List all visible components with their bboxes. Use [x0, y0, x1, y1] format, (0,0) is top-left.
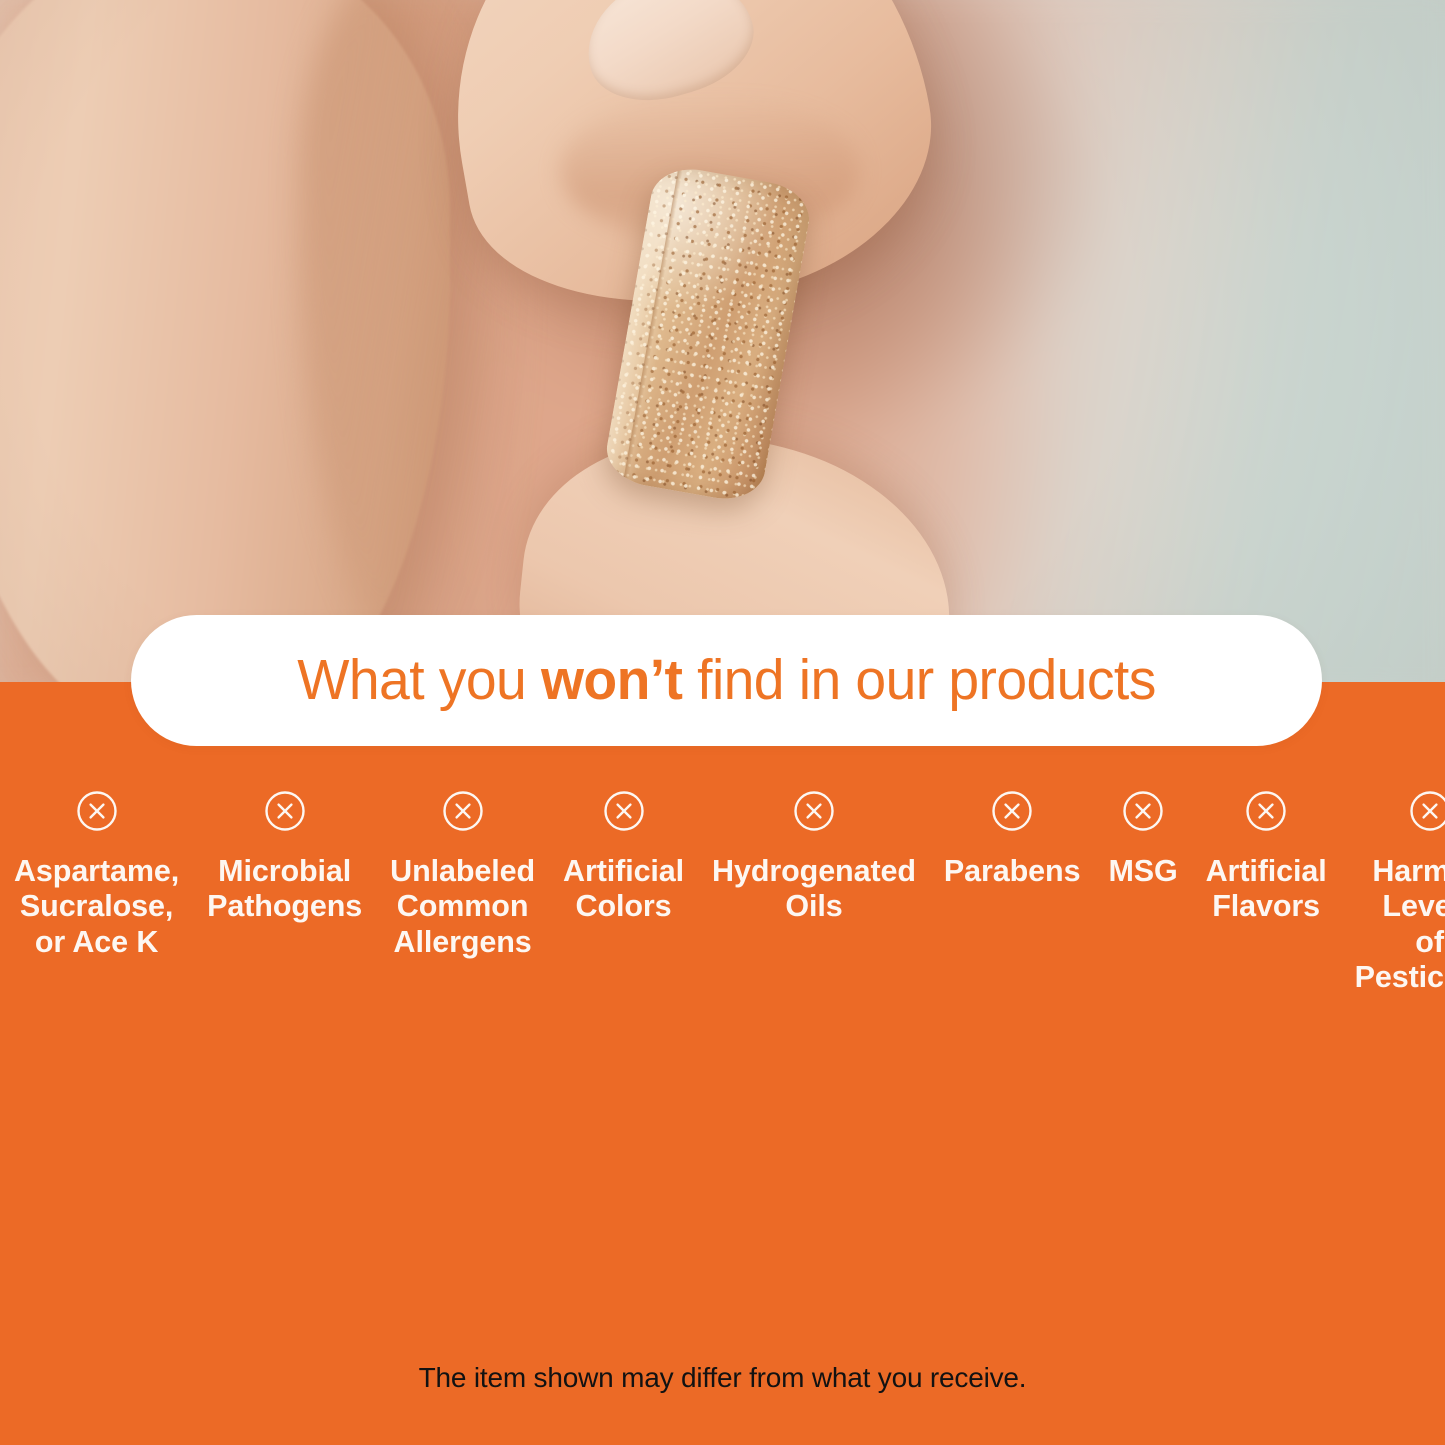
grid-cell-msg: MSG — [1094, 790, 1191, 955]
page-title-after: find in our products — [682, 648, 1155, 712]
page-title-emphasis: won’t — [541, 648, 682, 712]
hero-photo — [0, 0, 1445, 690]
circle-x-icon — [793, 790, 835, 832]
circle-x-icon — [264, 790, 306, 832]
grid-cell-label: Artificial Flavors — [1206, 854, 1327, 925]
grid-cell-label: Artificial Colors — [563, 854, 684, 925]
grid-cell-artificial-flavors: Artificial Flavors — [1192, 790, 1341, 955]
circle-x-icon — [991, 790, 1033, 832]
grid-row: Harmful Levels of Pesticides Irradiation… — [1341, 790, 1445, 970]
grid-cell-unlabeled-allergens: Unlabeled Common Allergens — [376, 790, 549, 958]
circle-x-icon — [76, 790, 118, 832]
disclaimer-text: The item shown may differ from what you … — [0, 1362, 1445, 1394]
grid-cell-parabens: Parabens — [930, 790, 1095, 955]
grid-cell-label: Unlabeled Common Allergens — [390, 854, 535, 960]
excluded-ingredients-grid: Aspartame, Sucralose, or Ace K Microbial… — [0, 790, 1445, 970]
page-title-before: What you — [297, 648, 541, 712]
photo-vignette — [0, 0, 1445, 690]
product-infographic-page: What you won’t find in our products Aspa… — [0, 0, 1445, 1445]
circle-x-icon — [442, 790, 484, 832]
grid-cell-hydrogenated-oils: Hydrogenated Oils — [698, 790, 930, 955]
grid-cell-label: Harmful Levels of Pesticides — [1355, 854, 1445, 996]
grid-row: Hydrogenated Oils Parabens — [698, 790, 1341, 970]
grid-cell-microbial-pathogens: Microbial Pathogens — [193, 790, 376, 958]
grid-cell-label: Aspartame, Sucralose, or Ace K — [14, 854, 179, 960]
heading-card: What you won’t find in our products — [131, 615, 1322, 746]
grid-cell-label: Parabens — [944, 854, 1081, 889]
circle-x-icon — [1122, 790, 1164, 832]
circle-x-icon — [1409, 790, 1445, 832]
grid-cell-label: Hydrogenated Oils — [712, 854, 916, 925]
circle-x-icon — [1245, 790, 1287, 832]
grid-cell-artificial-colors: Artificial Colors — [549, 790, 698, 958]
grid-cell-pesticides: Harmful Levels of Pesticides — [1341, 790, 1445, 970]
circle-x-icon — [603, 790, 645, 832]
grid-cell-aspartame: Aspartame, Sucralose, or Ace K — [0, 790, 193, 958]
grid-cell-label: Microbial Pathogens — [207, 854, 362, 925]
grid-cell-label: MSG — [1108, 854, 1177, 889]
grid-row: Aspartame, Sucralose, or Ace K Microbial… — [0, 790, 698, 970]
page-title: What you won’t find in our products — [297, 652, 1155, 709]
